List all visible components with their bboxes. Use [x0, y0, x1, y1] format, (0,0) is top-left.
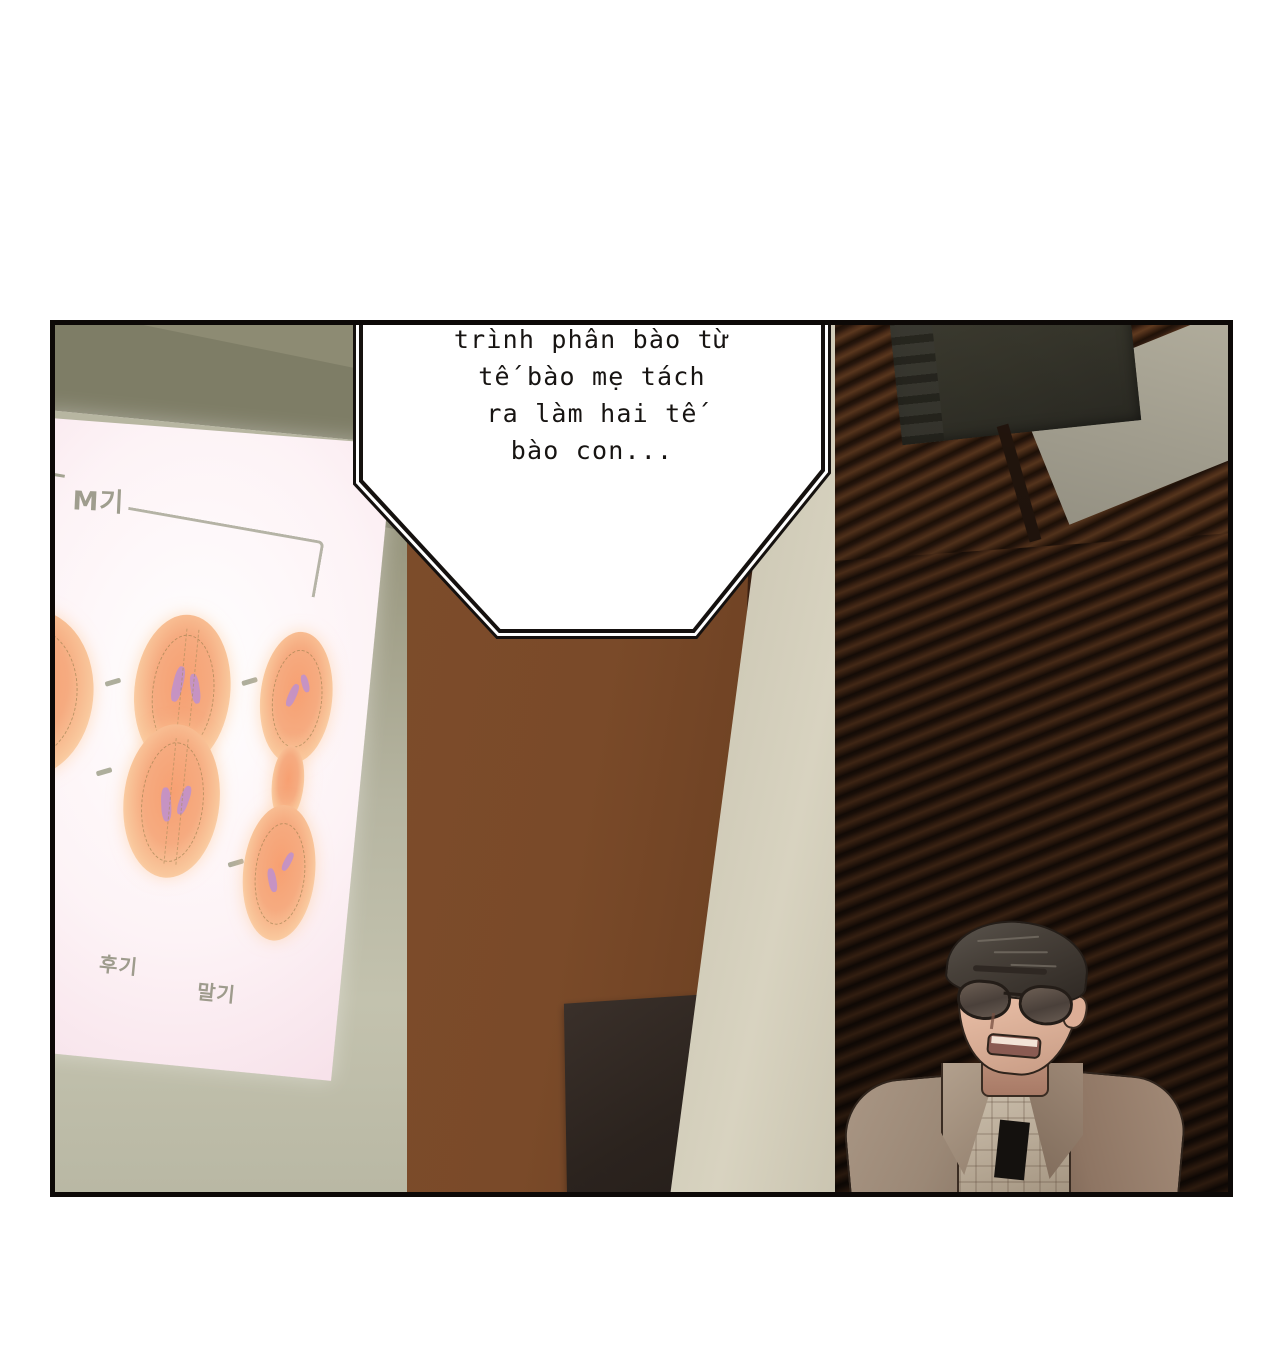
diagram-arrow [105, 678, 122, 687]
speech-bubble-text: Nguyên phân là quá trình phân bào từ tế … [353, 325, 831, 469]
speech-bubble: Nguyên phân là quá trình phân bào từ tế … [353, 325, 831, 639]
diagram-label-telophase: 말기 [196, 975, 237, 1008]
diagram-arrow [96, 767, 113, 776]
comic-panel: M기 [55, 325, 1228, 1192]
teacher-man [845, 925, 1175, 1192]
diagram-brace [119, 507, 325, 598]
diagram-arrow [227, 858, 244, 867]
necktie [994, 1120, 1030, 1181]
diagram-arrow [241, 677, 258, 686]
diagram-tick [55, 471, 65, 478]
cell-telophase-bottom [237, 802, 322, 944]
cell-metaphase [55, 604, 101, 784]
teeth [991, 1036, 1037, 1047]
mouth [986, 1033, 1042, 1060]
diagram-label-m-phase: M기 [72, 480, 125, 519]
cell-telophase-top [254, 628, 339, 766]
diagram-label-anaphase: 후기 [98, 948, 139, 981]
